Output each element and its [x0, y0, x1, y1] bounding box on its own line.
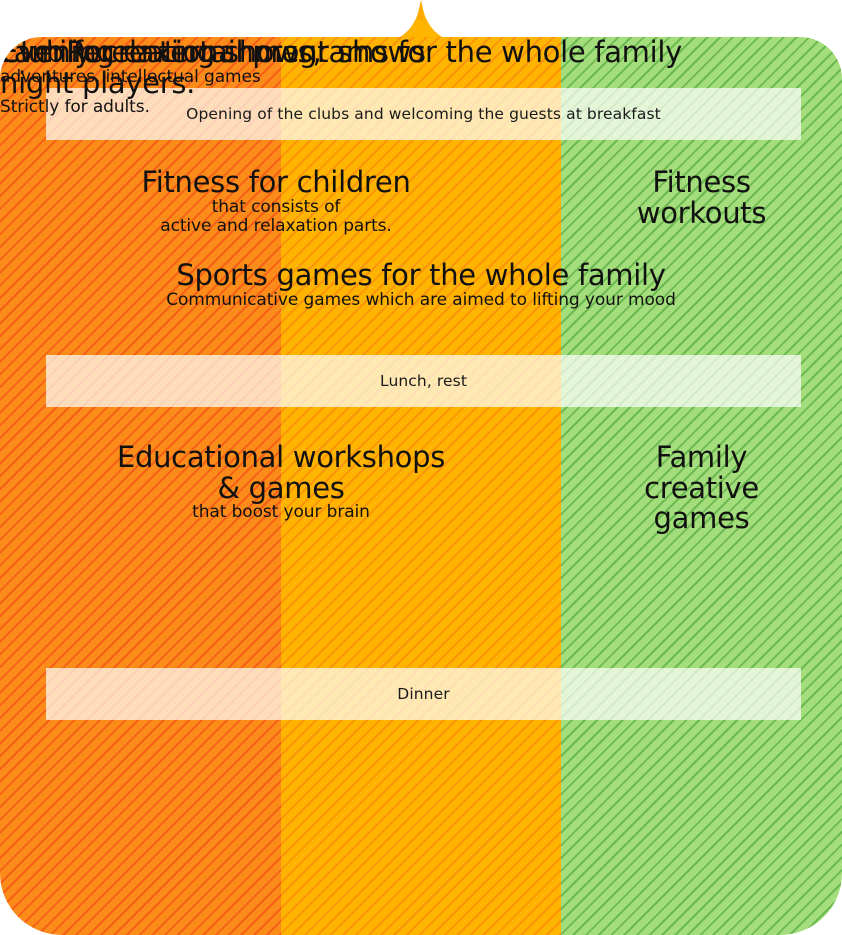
striped-panel: Opening of the clubs and welcoming the g…	[0, 37, 842, 935]
meal-bar-breakfast-label: Opening of the clubs and welcoming the g…	[186, 105, 661, 123]
activity-night-players-club: Club for night players. Strictly for adu…	[0, 37, 195, 118]
activity-family-creative-games-title-1: Family	[561, 442, 842, 473]
activity-family-creative-games: Family creative games	[561, 442, 842, 534]
meal-bar-lunch: Lunch, rest	[46, 355, 801, 407]
activity-night-players-club-sub-1: Strictly for adults.	[0, 98, 195, 117]
activity-family-creative-games-title-2: creative	[561, 473, 842, 504]
activity-educational-workshops-title-2: & games	[76, 473, 486, 504]
activity-fitness-workouts-title-1: Fitness	[561, 167, 842, 198]
meal-bar-dinner-label: Dinner	[397, 685, 449, 703]
activity-fitness-for-children-title: Fitness for children	[96, 167, 456, 198]
activity-fitness-workouts: Fitness workouts	[561, 167, 842, 228]
activity-educational-workshops-sub-1: that boost your brain	[76, 503, 486, 522]
activity-sports-games: Sports games for the whole family Commun…	[100, 260, 742, 310]
activity-family-creative-games-title-3: games	[561, 503, 842, 534]
activity-educational-workshops: Educational workshops & games that boost…	[76, 442, 486, 523]
activity-fitness-for-children-sub-1: that consists of	[96, 198, 456, 217]
activity-fitness-for-children-sub-2: active and relaxation parts.	[96, 217, 456, 236]
activity-sports-games-title: Sports games for the whole family	[100, 260, 742, 291]
activity-night-players-club-title-1: Club for	[0, 37, 195, 68]
activity-fitness-workouts-title-2: workouts	[561, 198, 842, 229]
activity-sports-games-sub-1: Communicative games which are aimed to l…	[100, 291, 742, 310]
activity-night-players-club-title-2: night players.	[0, 68, 195, 99]
schedule-infographic: Opening of the clubs and welcoming the g…	[0, 0, 842, 935]
activity-fitness-for-children: Fitness for children that consists of ac…	[96, 167, 456, 236]
meal-bar-dinner: Dinner	[46, 668, 801, 720]
meal-bar-lunch-label: Lunch, rest	[380, 372, 467, 390]
activity-educational-workshops-title-1: Educational workshops	[76, 442, 486, 473]
